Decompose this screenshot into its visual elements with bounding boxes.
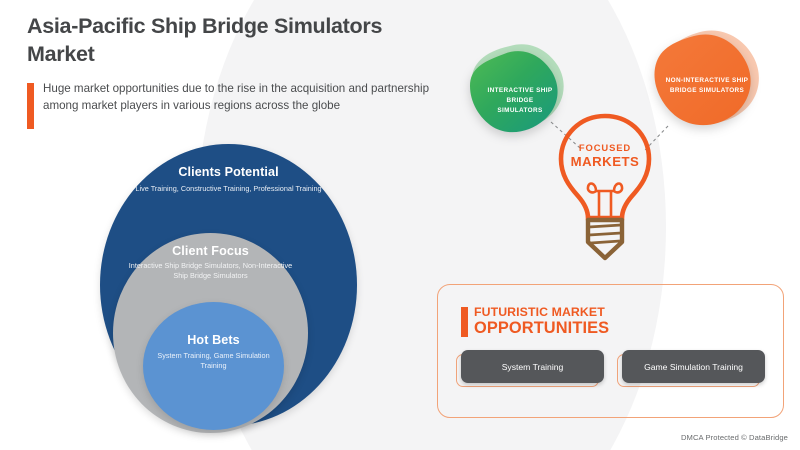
panel-title-line1: FUTURISTIC MARKET [474, 306, 609, 318]
panel-title-line2: OPPORTUNITIES [474, 320, 609, 336]
header: Asia-Pacific Ship Bridge Simulators Mark… [27, 13, 447, 129]
footer-copyright: DMCA Protected © DataBridge [681, 433, 788, 442]
lightbulb-icon [552, 112, 658, 264]
panel-header: FUTURISTIC MARKET OPPORTUNITIES [461, 306, 783, 337]
lightbulb-focused-markets: FOCUSED MARKETS [552, 112, 658, 264]
blob-label-non-interactive: NON-INTERACTIVE SHIP BRIDGE SIMULATORS [648, 76, 766, 96]
page-subtitle: Huge market opportunities due to the ris… [43, 81, 447, 129]
panel-accent-bar [461, 307, 468, 337]
system-training-button-wrap: System Training [461, 350, 604, 383]
subtitle-accent-bar [27, 83, 34, 129]
panel-button-row: System Training Game Simulation Training [461, 350, 783, 383]
futuristic-market-opportunities-panel: FUTURISTIC MARKET OPPORTUNITIES System T… [437, 284, 784, 418]
game-simulation-training-button-wrap: Game Simulation Training [622, 350, 765, 383]
system-training-button[interactable]: System Training [461, 350, 604, 383]
game-simulation-training-button[interactable]: Game Simulation Training [622, 350, 765, 383]
page-title: Asia-Pacific Ship Bridge Simulators Mark… [27, 13, 447, 68]
subtitle-block: Huge market opportunities due to the ris… [27, 81, 447, 129]
blob-non-interactive-ship-bridge-simulators[interactable]: NON-INTERACTIVE SHIP BRIDGE SIMULATORS [648, 28, 766, 136]
infographic-canvas: Asia-Pacific Ship Bridge Simulators Mark… [0, 0, 800, 450]
panel-title-group: FUTURISTIC MARKET OPPORTUNITIES [474, 306, 609, 337]
